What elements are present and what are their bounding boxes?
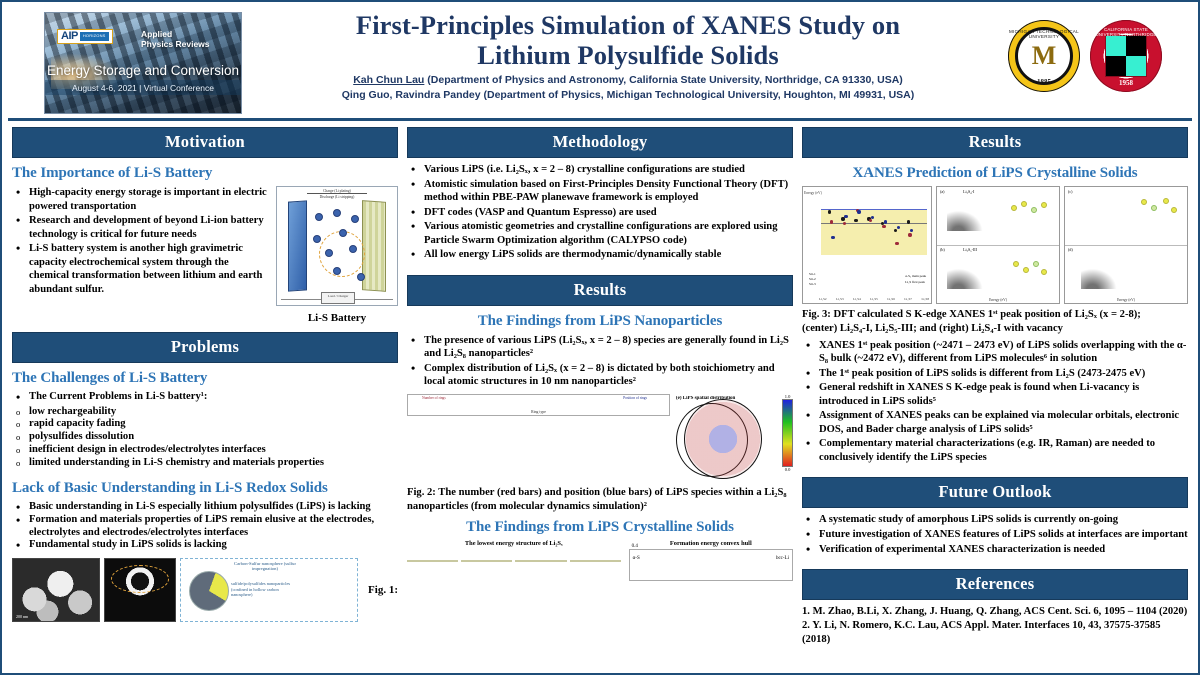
list-item: Future investigation of XANES features o…: [817, 528, 1188, 542]
poster-header: AIP HORIZONS Applied Physics Reviews Ene…: [8, 6, 1192, 121]
scatter-point: [830, 220, 833, 223]
list-item: low rechargeability: [27, 406, 398, 419]
structure-panel-label: The lowest energy structure of Li₂Sₓ: [407, 540, 621, 547]
ion-dot: [339, 229, 347, 237]
nanosphere-schematic: Carbon-Sulfur nanosphere (sulfur impregn…: [180, 558, 358, 622]
xanes-findings-bullets: XANES 1ˢᵗ peak position (~2471 – 2473 eV…: [802, 339, 1188, 466]
section-header-results-middle: Results: [407, 275, 793, 306]
list-item: The Current Problems in Li-S battery¹:: [27, 391, 398, 404]
y-axis-label: Energy (eV): [804, 191, 822, 195]
colorbar-wrap: 1.0 0.0: [782, 394, 793, 472]
radial-density-ellipse: [684, 399, 762, 479]
presenting-author: Kah Chun Lau: [353, 74, 424, 86]
list-item: High-capacity energy storage is importan…: [27, 186, 270, 213]
section-header-results-right: Results: [802, 127, 1188, 158]
lithium-atom: [1033, 261, 1039, 267]
subheading-xanes-prediction: XANES Prediction of LiPS Crystalline Sol…: [802, 165, 1188, 182]
aip-horizons-label: HORIZONS: [80, 32, 109, 40]
sulfur-atom: [1041, 202, 1047, 208]
future-outlook-bullets: A systematic study of amorphous LiPS sol…: [802, 513, 1188, 557]
ion-dot: [333, 209, 341, 217]
convex-hull-plot-area: 0.4 α-S bcc-Li: [629, 549, 793, 581]
panel-tag-b: (b): [940, 247, 945, 252]
scatter-point: [884, 220, 887, 223]
panel-b: (b) Li₂S₅-III: [937, 245, 1059, 303]
figure-3-caption-line2: (center) Li₂S₄-I, Li₂S₅-III; and (right)…: [802, 322, 1188, 336]
ion-dot: [315, 213, 323, 221]
conference-title: Energy Storage and Conversion: [45, 63, 241, 78]
author-1-affiliation: (Department of Physics and Astronomy, Ca…: [424, 74, 902, 86]
scale-bar-label: 200 nm: [16, 614, 28, 619]
list-item: The 1ˢᵗ peak position of LiPS solids is …: [817, 367, 1188, 381]
subheading-lack-understanding: Lack of Basic Understanding in Li-S Redo…: [12, 480, 398, 497]
spectrum-curve: [947, 255, 999, 289]
figure-2: Number of rings Position of rings Ring t…: [407, 394, 793, 482]
alpha-s8-main-peak-line: [821, 223, 927, 224]
sulfur-atom: [1023, 267, 1029, 273]
legend-alpha-s8: α-S₈ main peak: [905, 274, 926, 279]
motivation-content: High-capacity energy storage is importan…: [12, 186, 398, 324]
ion-dot: [325, 249, 333, 257]
scatter-point: [831, 236, 834, 239]
poster-title-line1: First-Principles Simulation of XANES Stu…: [248, 10, 1008, 40]
subheading-challenges: The Challenges of Li-S Battery: [12, 370, 398, 387]
subheading-importance: The Importance of Li-S Battery: [12, 165, 398, 182]
conference-date: August 4-6, 2021 | Virtual Conference: [45, 83, 241, 93]
legend-li2s: Li₂S first peak: [905, 280, 926, 285]
csun-seal-quadrants: [1105, 35, 1147, 77]
scatter-point: [854, 219, 857, 222]
journal-name: Applied Physics Reviews: [141, 30, 210, 50]
li-s-battery-diagram: Charge (Li plating) Discharge (Li stripp…: [276, 186, 398, 306]
tem-micrograph: [104, 558, 176, 622]
x-axis-label-center: Energy (eV): [937, 298, 1059, 302]
battery-figure-caption: Li-S Battery: [276, 312, 398, 324]
list-item: Various atomistic geometries and crystal…: [422, 220, 793, 247]
figure-3-caption: Fig. 3: DFT calculated S K-edge XANES 1ˢ…: [802, 308, 1188, 336]
sulfur-atom: [1041, 269, 1047, 275]
scatter-point: [908, 233, 911, 236]
crystalline-figures-row: The lowest energy structure of Li₂Sₓ For…: [407, 540, 793, 581]
sulfur-atom: [1013, 261, 1019, 267]
list-item: limited understanding in Li-S chemistry …: [27, 457, 398, 470]
sem-micrograph: 200 nm: [12, 558, 100, 622]
battery-figure-wrap: Charge (Li plating) Discharge (Li stripp…: [276, 186, 398, 324]
colorbar: [782, 399, 793, 467]
x-tick-label: Li₂S7: [904, 297, 912, 301]
mtu-seal-year: 1885: [1008, 78, 1080, 86]
x-axis-label-right: Energy (eV): [1065, 298, 1187, 302]
ion-dot: [333, 267, 341, 275]
panel-b-label: Li₂S₅-III: [963, 247, 977, 252]
title-block: First-Principles Simulation of XANES Stu…: [248, 6, 1008, 102]
nanoparticle-scatter-plot: (e) LiPS spatial distribution in nanopar…: [674, 394, 778, 482]
section-header-motivation: Motivation: [12, 127, 398, 158]
section-header-references: References: [802, 569, 1188, 600]
list-item: XANES 1ˢᵗ peak position (~2471 – 2473 eV…: [817, 339, 1188, 366]
journal-name-line2: Physics Reviews: [141, 40, 210, 50]
understanding-bullets: Basic understanding in Li-S especially l…: [12, 501, 398, 552]
list-item: A systematic study of amorphous LiPS sol…: [817, 513, 1188, 527]
sulfur-atom: [1021, 201, 1027, 207]
scatter-point: [843, 222, 846, 225]
list-item: Atomistic simulation based on First-Prin…: [422, 178, 793, 205]
ion-dot: [357, 273, 365, 281]
list-item: Verification of experimental XANES chara…: [817, 543, 1188, 557]
legend-number-of-rings: Number of rings: [422, 396, 446, 400]
colorbar-min-label: 0.0: [782, 467, 793, 472]
xanes-peak-position-scatter: Energy (eV) Str-1 Str-2 Str-3 α-S₈ main …: [802, 186, 932, 304]
nanoparticles-label: sulfide/polysulfides nanoparticles (conf…: [231, 581, 297, 598]
panel-a: (a) Li₂S₄-I: [937, 187, 1059, 246]
methodology-bullets: Various LiPS (i.e. Li₂Sₓ, x = 2 – 8) cry…: [407, 163, 793, 263]
author-line-2: Qing Guo, Ravindra Pandey (Department of…: [248, 88, 1008, 102]
list-item: Research and development of beyond Li-io…: [27, 214, 270, 241]
cathode-electrode: [362, 200, 386, 292]
sulfur-atom: [1163, 198, 1169, 204]
x-tick-label: Li₂S3: [836, 297, 844, 301]
series-legend: Str-1 Str-2 Str-3: [809, 272, 816, 287]
convex-endpoint-right: bcc-Li: [776, 556, 789, 561]
charge-label: Charge (Li plating): [307, 189, 367, 194]
csun-seal-icon: CALIFORNIA STATE UNIVERSITY NORTHRIDGE 1…: [1090, 20, 1162, 92]
convex-endpoint-left: α-S: [633, 556, 640, 561]
author-block: Kah Chun Lau (Department of Physics and …: [248, 73, 1008, 101]
aip-logo-text: AIP: [61, 31, 78, 42]
list-item: polysulfides dissolution: [27, 431, 398, 444]
scatter-point: [895, 242, 898, 245]
list-item: DFT codes (VASP and Quantum Espresso) ar…: [422, 206, 793, 220]
structure-thumb: [570, 560, 621, 562]
convex-hull-chart: 0.4 α-S bcc-Li: [629, 549, 793, 581]
csun-seal-arc-text: CALIFORNIA STATE UNIVERSITY NORTHRIDGE: [1090, 27, 1162, 37]
scatter-point: [828, 210, 831, 213]
spectrum-curve: [947, 197, 999, 231]
highlight-ellipse: [111, 565, 169, 593]
left-column: Motivation The Importance of Li-S Batter…: [12, 127, 398, 679]
figure-1-caption: Fig. 1:: [368, 584, 398, 596]
nanoparticle-findings-bullets: The presence of various LiPS (Li₂Sₓ, x =…: [407, 334, 793, 390]
subheading-lips-crystalline: The Findings from LiPS Crystalline Solid…: [407, 519, 793, 536]
x-axis-tick-labels: Li₂S2Li₂S3Li₂S4Li₂S5Li₂S6Li₂S7Li₂S8: [819, 297, 929, 301]
middle-column: Methodology Various LiPS (i.e. Li₂Sₓ, x …: [407, 127, 793, 679]
nanosphere-label: Carbon-Sulfur nanosphere (sulfur impregn…: [233, 561, 297, 571]
scatter-point: [907, 220, 910, 223]
poster-columns: Motivation The Importance of Li-S Batter…: [8, 127, 1192, 679]
list-item: rapid capacity fading: [27, 418, 398, 431]
structure-thumb: [461, 560, 512, 562]
list-item: The presence of various LiPS (Li₂Sₓ, x =…: [422, 334, 793, 361]
list-item: Complex distribution of Li₂Sₓ (x = 2 – 8…: [422, 362, 793, 389]
aip-logo: AIP HORIZONS: [57, 29, 113, 44]
sulfur-atom: [1011, 205, 1017, 211]
reference-line-legend: α-S₈ main peak Li₂S first peak: [905, 274, 926, 285]
poster-title: First-Principles Simulation of XANES Stu…: [248, 10, 1008, 70]
university-logos: MICHIGAN TECHNOLOGICAL UNIVERSITY M 1885…: [1008, 20, 1162, 92]
structure-thumbnails: [407, 547, 621, 575]
reference-item: 1. M. Zhao, B.Li, X. Zhang, J. Huang, Q.…: [802, 605, 1188, 619]
list-item: All low energy LiPS solids are thermodyn…: [422, 248, 793, 262]
conference-banner: AIP HORIZONS Applied Physics Reviews Ene…: [44, 12, 242, 114]
ion-dot: [351, 215, 359, 223]
list-item: General redshift in XANES S K-edge peak …: [817, 381, 1188, 408]
xanes-spectra-panel-center: (a) Li₂S₄-I (b) Li₂S₅-III: [936, 186, 1060, 304]
lithium-atom: [1031, 207, 1037, 213]
scatter-point: [882, 225, 885, 228]
x-tick-label: Li₂S5: [870, 297, 878, 301]
problems-sub-bullets: low rechargeability rapid capacity fadin…: [12, 406, 398, 470]
figure-3-caption-line1: Fig. 3: DFT calculated S K-edge XANES 1ˢ…: [802, 308, 1188, 322]
panel-d: (d): [1065, 245, 1187, 303]
structure-panel: The lowest energy structure of Li₂Sₓ: [407, 540, 621, 581]
figure-3: Energy (eV) Str-1 Str-2 Str-3 α-S₈ main …: [802, 186, 1188, 304]
structure-thumb: [515, 560, 566, 562]
x-axis-label: Ring type: [408, 410, 669, 414]
figure-1: 200 nm Carbon-Sulfur nanosphere (sulfur …: [12, 557, 398, 623]
michigan-tech-seal-icon: MICHIGAN TECHNOLOGICAL UNIVERSITY M 1885: [1008, 20, 1080, 92]
lithium-atom: [1151, 205, 1157, 211]
list-item: inefficient design in electrodes/electro…: [27, 444, 398, 457]
legend-str-3: Str-3: [809, 282, 816, 287]
molecule-structure-icon: [1007, 195, 1055, 225]
reference-item: 2. Y. Li, N. Romero, K.C. Lau, ACS Appl.…: [802, 619, 1188, 647]
list-item: Fundamental study in LiPS solids is lack…: [27, 539, 398, 552]
xanes-spectra-panel-right: (c) (d) Energy (eV): [1064, 186, 1188, 304]
spectrum-curve: [1081, 255, 1133, 289]
csun-seal-year: 1958: [1090, 79, 1162, 87]
li2s-first-peak-line: [821, 209, 927, 210]
right-column: Results XANES Prediction of LiPS Crystal…: [802, 127, 1188, 679]
carbon-sulfur-sphere-icon: [189, 571, 229, 611]
scatter-point: [844, 215, 847, 218]
ring-distribution-bar-chart: Number of rings Position of rings Ring t…: [407, 394, 670, 416]
ion-dot: [313, 235, 321, 243]
discharge-label: Discharge (Li stripping): [307, 195, 367, 199]
convex-y-max: 0.4: [632, 544, 638, 549]
list-item: Basic understanding in Li-S especially l…: [27, 501, 398, 514]
panel-c: (c): [1065, 187, 1187, 246]
sulfur-atom: [1141, 199, 1147, 205]
x-tick-label: Li₂S4: [853, 297, 861, 301]
x-tick-label: Li₂S8: [921, 297, 929, 301]
list-item: Formation and materials properties of Li…: [27, 514, 398, 539]
section-header-methodology: Methodology: [407, 127, 793, 158]
list-item: Assignment of XANES peaks can be explain…: [817, 409, 1188, 436]
molecule-structure-icon: [1137, 193, 1185, 223]
list-item: Various LiPS (i.e. Li₂Sₓ, x = 2 – 8) cry…: [422, 163, 793, 177]
problems-bullets: The Current Problems in Li-S battery¹:: [12, 391, 398, 404]
ion-dot: [349, 245, 357, 253]
scatter-point: [857, 210, 860, 213]
section-header-future-outlook: Future Outlook: [802, 477, 1188, 508]
panel-a-label: Li₂S₄-I: [963, 189, 974, 194]
author-line-1: Kah Chun Lau (Department of Physics and …: [248, 73, 1008, 87]
anode-electrode: [288, 200, 307, 291]
structure-thumb: [407, 560, 458, 562]
poster-root: AIP HORIZONS Applied Physics Reviews Ene…: [0, 0, 1200, 675]
list-item: Li-S battery system is another high grav…: [27, 242, 270, 296]
panel-tag-d: (d): [1068, 247, 1073, 252]
poster-title-line2: Lithium Polysulfide Solids: [248, 40, 1008, 70]
load-charger-box: Load / Charger: [321, 292, 355, 304]
panel-tag-c: (c): [1068, 189, 1072, 194]
sulfur-atom: [1171, 207, 1177, 213]
panel-tag-a: (a): [940, 189, 944, 194]
subheading-lips-nanoparticles: The Findings from LiPS Nanoparticles: [407, 313, 793, 330]
convex-hull-panel: Formation energy convex hull 0.4 α-S bcc…: [629, 540, 793, 581]
x-tick-label: Li₂S2: [819, 297, 827, 301]
legend-position-of-rings: Position of rings: [623, 396, 647, 400]
convex-hull-label: Formation energy convex hull: [629, 540, 793, 547]
list-item: Complementary material characterizations…: [817, 437, 1188, 464]
molecule-structure-icon: [1007, 253, 1055, 283]
section-header-problems: Problems: [12, 332, 398, 363]
figure-2-caption: Fig. 2: The number (red bars) and positi…: [407, 486, 793, 514]
x-tick-label: Li₂S6: [887, 297, 895, 301]
motivation-bullets: High-capacity energy storage is importan…: [12, 186, 270, 297]
